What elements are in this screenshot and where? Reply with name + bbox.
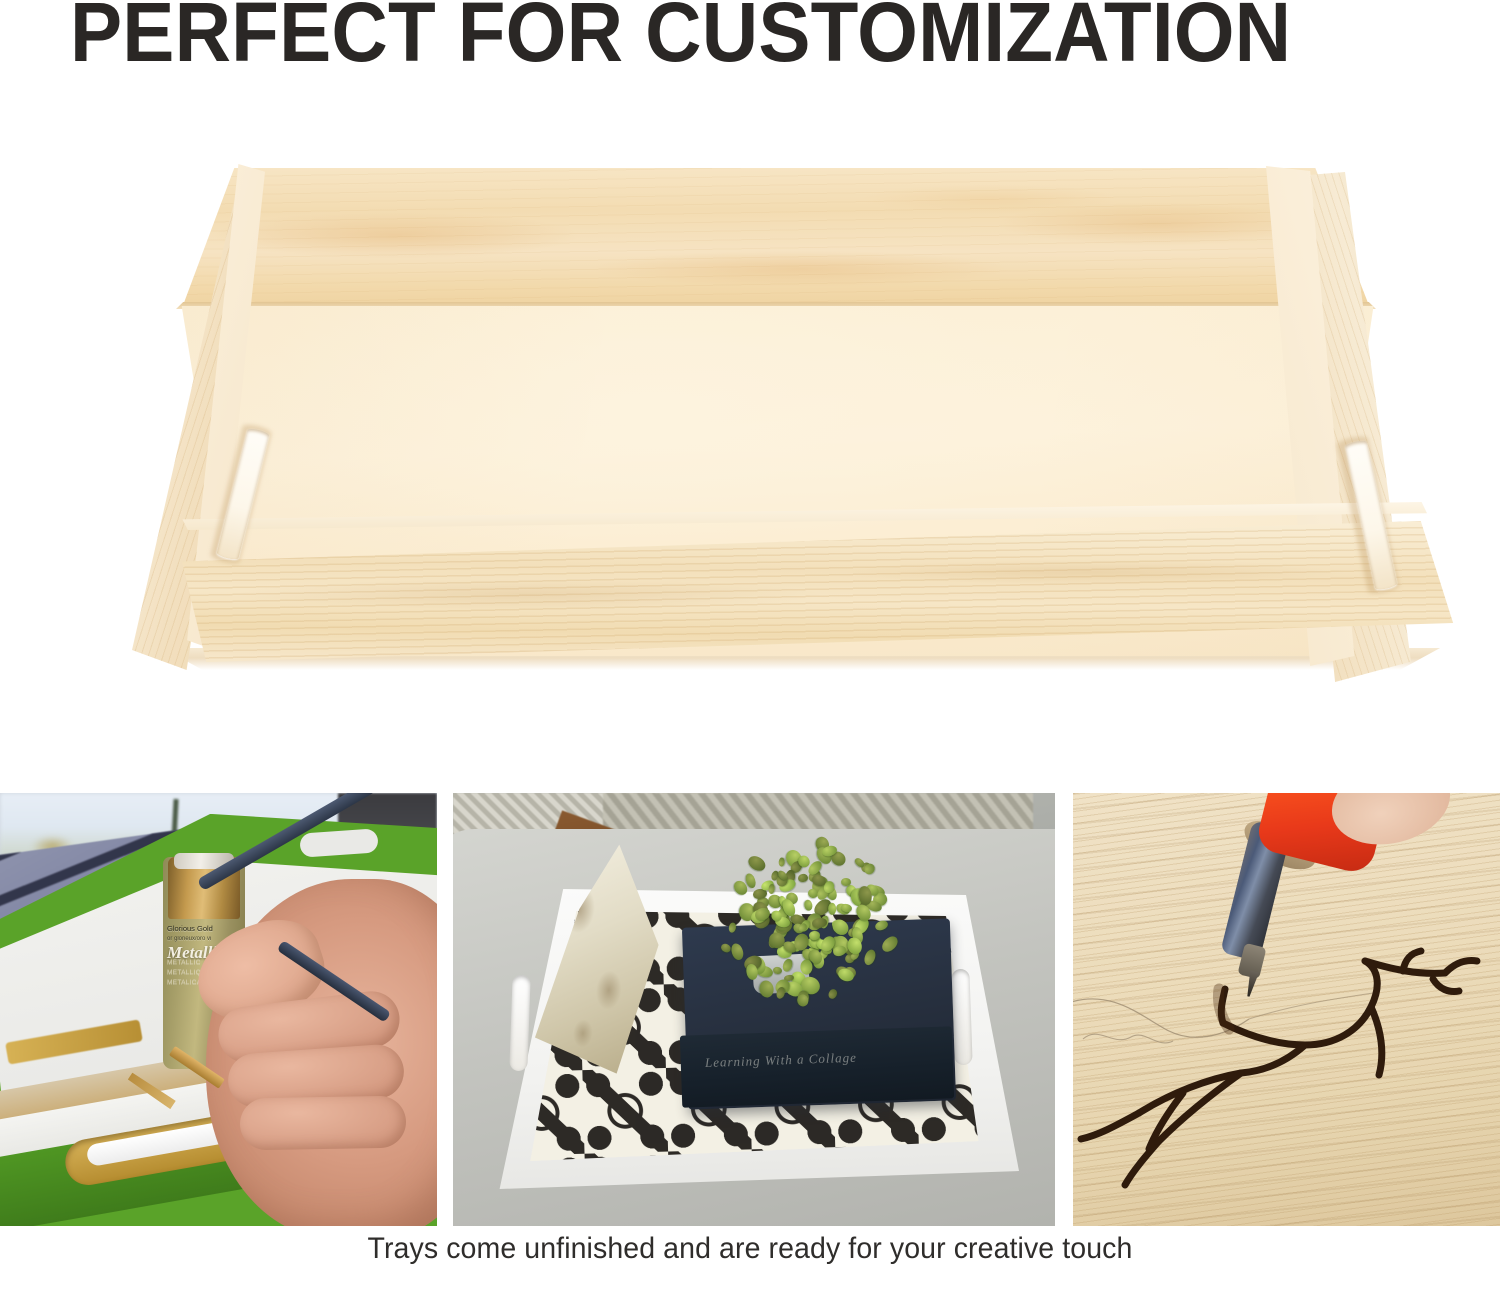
hero-product-photo <box>0 120 1500 720</box>
photo-wood-burning <box>1073 793 1500 1226</box>
p1-finger-ring <box>240 1096 407 1151</box>
photo-styled-tray: Learning With a Collage <box>453 793 1055 1226</box>
p2-boxwood-plant <box>711 815 907 1005</box>
feature-photo-row: Glorious Gold or glorieux/oro vi Metalli… <box>0 793 1500 1226</box>
p1-paint-name: Glorious Gold <box>167 924 241 934</box>
caption-text: Trays come unfinished and are ready for … <box>38 1232 1463 1266</box>
tray-back-wall <box>182 168 1370 308</box>
wooden-tray <box>60 150 1450 710</box>
p2-tray-handle-left <box>509 975 530 1072</box>
product-marketing-image: PERFECT FOR CUSTOMIZATION <box>0 0 1500 1293</box>
page-title: PERFECT FOR CUSTOMIZATION <box>70 0 1353 78</box>
p2-tray-handle-right <box>951 969 972 1066</box>
photo-painting-tray: Glorious Gold or glorieux/oro vi Metalli… <box>0 793 437 1226</box>
